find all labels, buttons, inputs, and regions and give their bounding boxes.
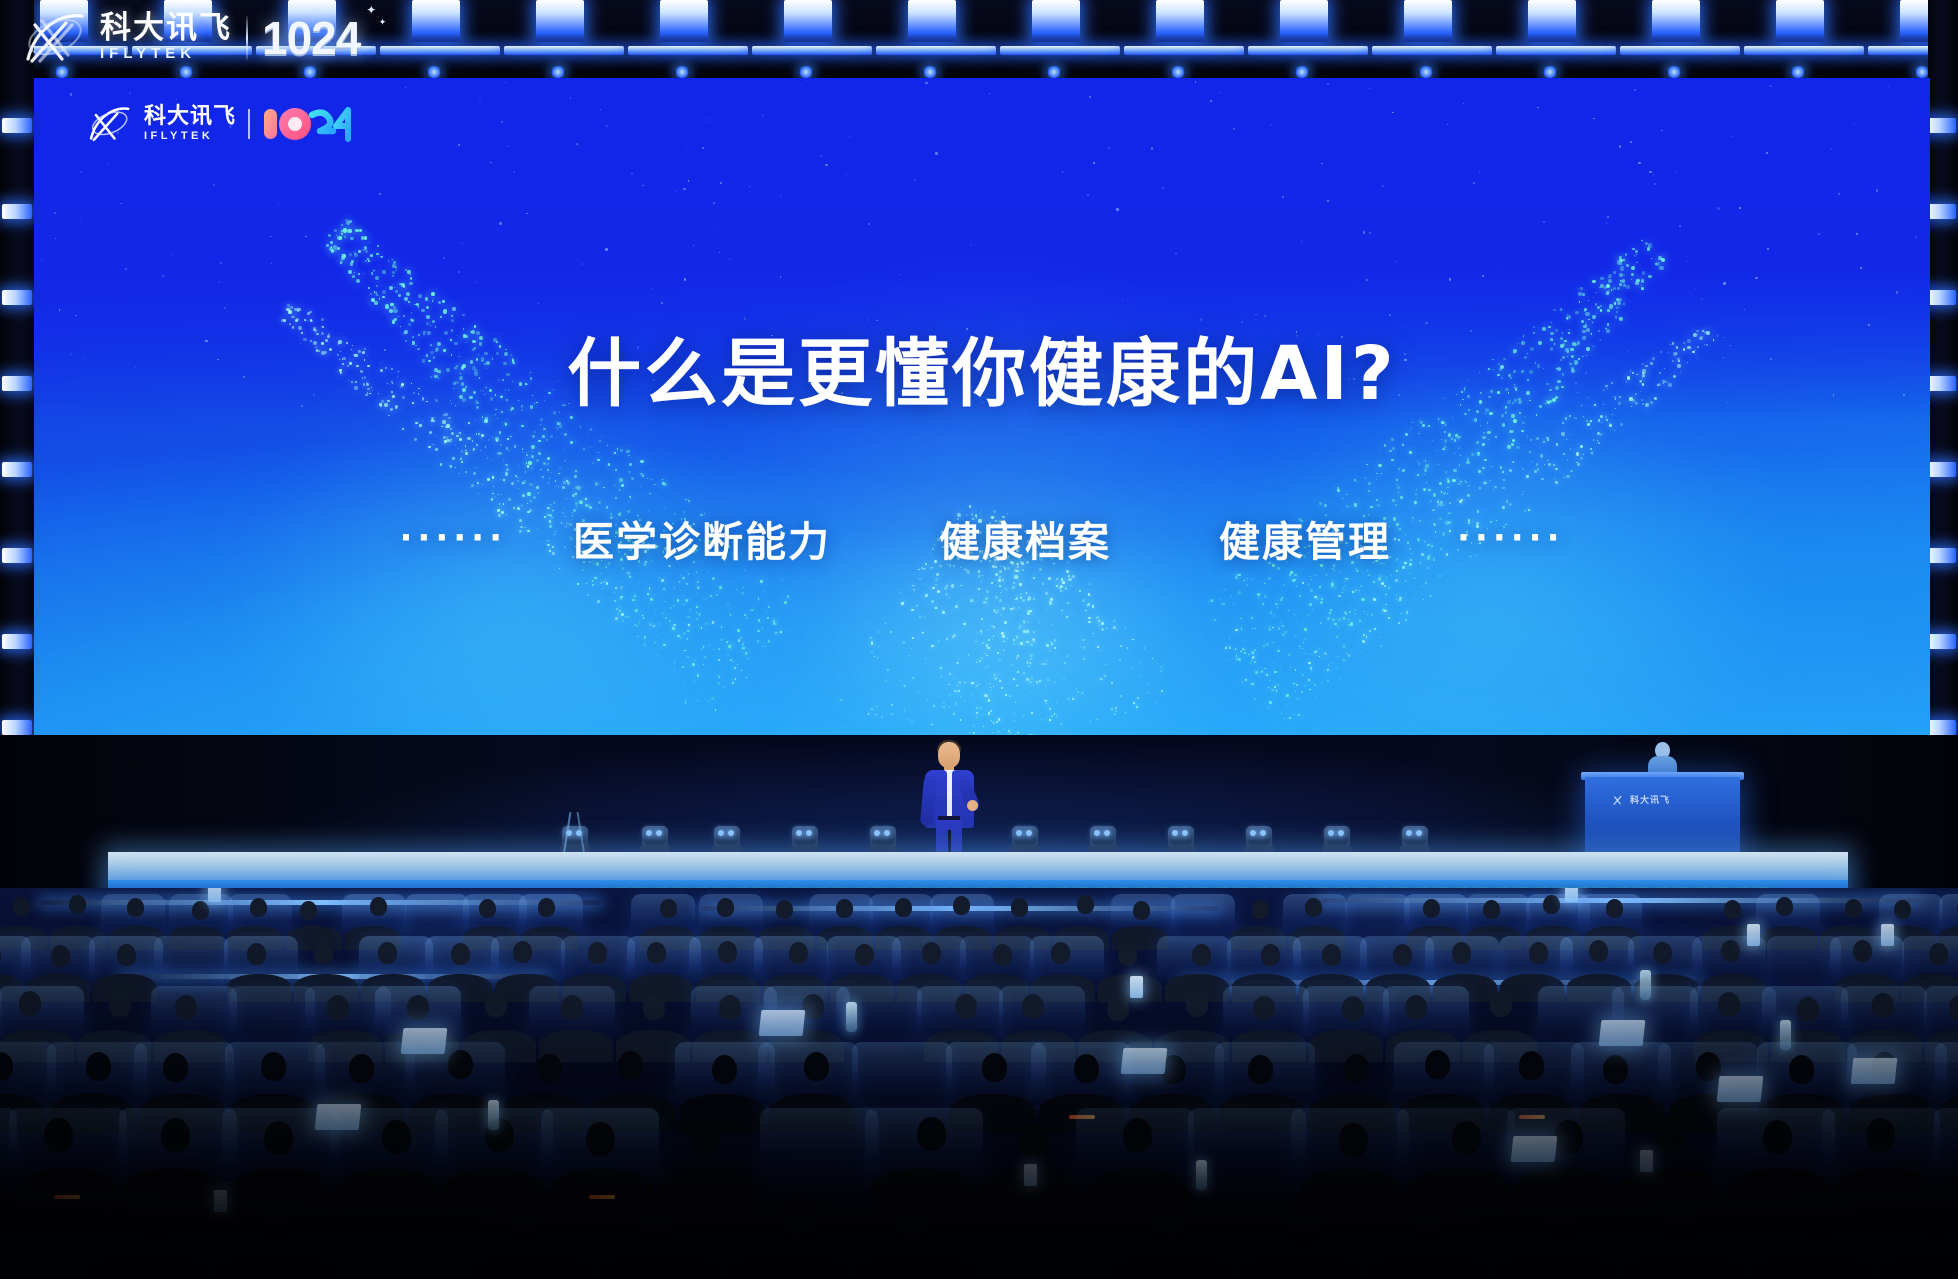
slide-particle — [1373, 598, 1376, 601]
slide-particle — [968, 654, 969, 655]
slide-particle — [1723, 282, 1725, 284]
slide-particle — [425, 297, 428, 300]
slide-particle — [1255, 671, 1257, 673]
slide-particle — [1017, 655, 1019, 657]
slide-particle — [619, 478, 622, 481]
slide-particle — [549, 478, 550, 479]
led-bar-horizontal — [876, 46, 996, 55]
slide-particle — [912, 585, 914, 587]
slide-particle — [479, 100, 481, 102]
slide-particle — [435, 448, 438, 451]
slide-particle — [1687, 261, 1688, 262]
slide-particle — [985, 597, 988, 600]
slide-particle — [1631, 279, 1632, 280]
slide-particle — [683, 188, 685, 190]
slide-particle — [1088, 603, 1089, 604]
led-bar-side — [1926, 548, 1956, 563]
slide-particle — [125, 268, 127, 270]
slide-particle — [971, 694, 972, 695]
slide-particle — [1331, 663, 1332, 664]
slide-particle — [684, 650, 686, 652]
slide-particle — [1547, 439, 1549, 441]
slide-particle — [731, 608, 732, 609]
slide-particle — [1445, 471, 1447, 473]
slide-particle — [737, 629, 740, 632]
slide-particle — [946, 638, 948, 640]
slide-particle — [1039, 568, 1042, 571]
slide-particle — [1233, 128, 1235, 130]
slide-particle — [1619, 273, 1623, 277]
slide-particle — [334, 229, 337, 232]
slide-particle — [1049, 708, 1051, 710]
slide-particle — [622, 620, 624, 622]
slide-particle — [740, 637, 742, 639]
slide-particle — [1426, 482, 1427, 483]
slide-particle — [1051, 643, 1053, 645]
slide-particle — [1604, 286, 1607, 289]
slide-particle — [1298, 714, 1300, 716]
slide-particle — [913, 589, 915, 591]
slide-particle — [1405, 619, 1407, 621]
slide-particle — [654, 484, 655, 485]
slide-particle — [1634, 255, 1635, 256]
slide-particle — [1030, 640, 1031, 641]
slide-particle — [620, 596, 623, 599]
slide-particle — [640, 486, 641, 487]
slide-particle — [1042, 583, 1044, 585]
slide-particle — [1152, 658, 1153, 659]
slide-particle — [495, 496, 496, 497]
slide-particle — [746, 677, 747, 678]
slide-particle — [958, 690, 960, 692]
slide-particle — [900, 592, 901, 593]
slide-particle — [477, 482, 479, 484]
slide-particle — [1555, 481, 1557, 483]
slide-particle — [703, 647, 704, 648]
slide-particle — [508, 146, 509, 147]
slide-particle — [1464, 480, 1465, 481]
slide-particle — [460, 458, 462, 460]
slide-particle — [720, 182, 722, 184]
slide-particle — [1026, 592, 1027, 593]
slide-particle — [1019, 625, 1021, 627]
slide-particle — [1350, 622, 1353, 625]
slide-particle — [1022, 599, 1025, 602]
slide-particle — [1087, 194, 1089, 196]
slide-particle — [1362, 640, 1365, 643]
slide-particle — [1613, 287, 1616, 290]
slide-particle — [1000, 614, 1002, 616]
slide-particle — [1443, 492, 1446, 495]
slide-particle — [1310, 654, 1311, 655]
slide-particle — [403, 285, 405, 287]
slide-particle — [55, 238, 56, 239]
slide-particle — [532, 435, 535, 438]
slide-particle — [1570, 470, 1573, 473]
slide-particle — [924, 617, 925, 618]
slide-particle — [443, 309, 447, 313]
slide-particle — [978, 570, 981, 573]
slide-particle — [1530, 439, 1532, 441]
slide-particle — [991, 720, 992, 721]
slide-particle — [1631, 273, 1634, 276]
slide-particle — [344, 236, 346, 238]
slide-particle — [1271, 689, 1274, 692]
slide-particle — [576, 506, 577, 507]
slide-particle — [376, 253, 379, 256]
slide-particle — [368, 287, 371, 290]
slide-particle — [958, 659, 959, 660]
slide-particle — [382, 270, 386, 274]
slide-particle — [1343, 645, 1345, 647]
slide-particle — [1316, 697, 1317, 698]
slide-particle — [359, 229, 362, 232]
slide-particle — [1342, 498, 1343, 499]
slide-particle — [1252, 579, 1253, 580]
slide-particle — [1041, 719, 1042, 720]
slide-particle — [719, 252, 720, 253]
slide-particle — [1695, 288, 1696, 289]
slide-particle — [1294, 714, 1295, 715]
slide-particle — [922, 632, 923, 633]
slide-particle — [1478, 470, 1481, 473]
slide-particle — [655, 642, 656, 643]
slide-particle — [476, 444, 478, 446]
slide-particle — [717, 682, 720, 685]
slide-particle — [1659, 266, 1663, 270]
led-bar-vertical — [1156, 0, 1204, 42]
slide-particle — [534, 431, 536, 433]
slide-particle — [1151, 147, 1153, 149]
slide-particle — [1351, 189, 1352, 190]
slide-particle — [1600, 305, 1602, 307]
slide-particle — [579, 501, 582, 504]
slide-particle — [922, 633, 923, 634]
slide-particle — [381, 285, 382, 286]
slide-particle — [1082, 692, 1083, 693]
slide-particle — [903, 641, 905, 643]
slide-particle — [378, 281, 379, 282]
slide-particle — [1616, 311, 1618, 313]
slide-particle — [1701, 298, 1703, 300]
slide-particle — [662, 482, 664, 484]
led-bar-horizontal — [1372, 46, 1492, 55]
slide-particle — [688, 500, 690, 502]
slide-particle — [1617, 287, 1620, 290]
slide-particle — [764, 591, 765, 592]
slide-particle — [1212, 616, 1213, 617]
slide-particle — [988, 629, 989, 630]
slide-particle — [1096, 616, 1098, 618]
led-glow-dot — [674, 66, 690, 78]
slide-particle — [1009, 733, 1010, 734]
slide-particle — [353, 251, 354, 252]
slide-particle — [868, 223, 870, 225]
slide-particle — [1009, 683, 1010, 684]
slide-particle — [697, 700, 699, 702]
slide-particle — [382, 296, 384, 298]
slide-particle — [730, 614, 731, 615]
led-bar-vertical — [660, 0, 708, 42]
slide-particle — [658, 635, 659, 636]
slide-particle — [1162, 187, 1164, 189]
slide-particle — [1030, 643, 1033, 646]
slide-particle — [363, 262, 364, 263]
slide-particle — [1661, 130, 1662, 131]
slide-particle — [1634, 89, 1636, 91]
slide-particle — [1356, 570, 1359, 573]
slide-particle — [631, 477, 634, 480]
slide-particle — [628, 455, 629, 456]
slide-particle — [933, 705, 935, 707]
slide-particle — [1079, 590, 1081, 592]
slide-particle — [526, 213, 528, 215]
slide-particle — [129, 92, 131, 94]
slide-particle — [698, 624, 699, 625]
slide-particle — [830, 112, 831, 113]
slide-particle — [730, 659, 732, 661]
slide-particle — [1028, 666, 1029, 667]
slide-particle — [1327, 83, 1329, 85]
slide-particle — [605, 125, 607, 127]
slide-particle — [392, 275, 394, 277]
slide-particle — [1093, 162, 1094, 163]
slide-particle — [618, 606, 619, 607]
slide-particle — [341, 224, 344, 227]
slide-particle — [1023, 630, 1025, 632]
slide-particle — [1056, 716, 1057, 717]
slide-particle — [348, 270, 352, 274]
slide-particle — [350, 237, 354, 241]
slide-particle — [1257, 653, 1258, 654]
slide-particle — [1261, 670, 1263, 672]
slide-particle — [931, 645, 933, 647]
slide-particle — [600, 582, 602, 584]
slide-particle — [927, 699, 928, 700]
slide-particle — [1860, 267, 1862, 269]
slide-particle — [1312, 609, 1314, 611]
slide-particle — [458, 448, 459, 449]
slide-particle — [1614, 302, 1617, 305]
led-glow-dot — [1790, 66, 1806, 78]
keynote-speaker — [916, 742, 982, 864]
slide-particle — [942, 610, 943, 611]
slide-particle — [1458, 436, 1461, 439]
slide-particle — [1017, 732, 1019, 734]
leading-ellipsis: ······ — [400, 518, 508, 558]
slide-particle — [1631, 266, 1636, 271]
slide-particle — [1513, 461, 1514, 462]
led-bar-vertical — [536, 0, 584, 42]
slide-particle — [499, 222, 501, 224]
slide-particle — [563, 481, 566, 484]
slide-particle — [1618, 307, 1619, 308]
slide-particle — [738, 639, 740, 641]
slide-particle — [931, 724, 932, 725]
slide-particle — [1463, 103, 1464, 104]
slide-particle — [1014, 713, 1015, 714]
slide-particle — [1626, 264, 1629, 267]
slide-particle — [931, 600, 934, 603]
slide-particle — [429, 431, 432, 434]
slide-particle — [1270, 611, 1273, 614]
slide-particle — [1625, 253, 1628, 256]
slide-particle — [607, 445, 608, 446]
slide-particle — [54, 212, 56, 214]
slide-particle — [1425, 582, 1427, 584]
slide-particle — [341, 233, 343, 235]
slide-particle — [356, 279, 360, 283]
slide-particle — [954, 690, 956, 692]
slide-particle — [1108, 147, 1110, 149]
slide-particle — [1144, 647, 1145, 648]
slide-particle — [996, 721, 998, 723]
slide-particle — [1361, 629, 1362, 630]
slide-particle — [935, 152, 937, 154]
slide-particle — [602, 588, 603, 589]
slide-particle — [960, 719, 962, 721]
slide-particle — [1641, 279, 1644, 282]
slide-particle — [621, 484, 624, 487]
slide-particle — [989, 673, 990, 674]
slide-particle — [1495, 436, 1497, 438]
slide-particle — [640, 460, 643, 463]
slide-particle — [507, 438, 509, 440]
slide-particle — [1113, 626, 1116, 629]
slide-particle — [1061, 610, 1062, 611]
slide-particle — [677, 599, 679, 601]
slide-particle — [1348, 619, 1349, 620]
slide-particle — [443, 257, 445, 259]
slide-particle — [1354, 503, 1357, 506]
led-bar-horizontal — [1744, 46, 1864, 55]
slide-particle — [392, 284, 394, 286]
slide-particle — [688, 180, 689, 181]
slide-particle — [711, 697, 714, 700]
slide-particle — [1391, 575, 1392, 576]
slide-particle — [410, 277, 413, 280]
slide-particle — [1288, 610, 1289, 611]
slide-particle — [780, 631, 782, 633]
slide-particle — [661, 579, 664, 582]
slide-particle — [1274, 686, 1276, 688]
slide-particle — [1354, 613, 1356, 615]
slide-particle — [1593, 297, 1594, 298]
slide-particle — [672, 627, 674, 629]
presentation-slide: 科大讯飞 IFLYTEK — [34, 78, 1930, 735]
slide-particle — [1327, 617, 1330, 620]
slide-particle — [461, 468, 462, 469]
slide-particle — [685, 499, 686, 500]
slide-particle — [511, 482, 514, 485]
slide-particle — [220, 262, 222, 264]
slide-particle — [663, 588, 665, 590]
slide-particle — [1133, 702, 1135, 704]
slide-particle — [1635, 250, 1638, 253]
hall-logo-event-number: 1024 — [262, 15, 360, 61]
slide-particle — [355, 229, 358, 232]
slide-particle — [675, 191, 676, 192]
slide-particle — [1392, 499, 1395, 502]
slide-logo-cn-name: 科大讯飞 — [144, 105, 236, 127]
slide-particle — [1578, 292, 1582, 296]
slide-particle — [1282, 633, 1285, 636]
slide-particle — [619, 610, 621, 612]
slide-particle — [696, 606, 698, 608]
slide-particle — [1619, 283, 1622, 286]
slide-particle — [1030, 658, 1032, 660]
slide-particle — [1420, 421, 1423, 424]
slide-particle — [1334, 570, 1335, 571]
slide-particle — [565, 478, 566, 479]
led-bar-horizontal — [1248, 46, 1368, 55]
slide-particle — [1008, 730, 1010, 732]
slide-particle — [614, 452, 615, 453]
slide-particle — [1363, 634, 1365, 636]
slide-particle — [449, 465, 450, 466]
slide-particle — [570, 97, 572, 99]
slide-particle — [1080, 646, 1082, 648]
slide-particle — [925, 82, 927, 84]
slide-particle — [1648, 275, 1652, 279]
slide-particle — [655, 610, 656, 611]
slide-particle — [999, 585, 1001, 587]
slide-particle — [1211, 599, 1213, 601]
slide-particle — [712, 621, 714, 623]
slide-particle — [1242, 681, 1243, 682]
led-bar-side — [2, 204, 32, 219]
slide-particle — [1641, 285, 1642, 286]
slide-particle — [820, 155, 822, 157]
slide-particle — [349, 220, 352, 223]
slide-particle — [1062, 581, 1065, 584]
slide-particle — [1082, 599, 1085, 602]
slide-particle — [530, 500, 532, 502]
slide-particle — [701, 649, 702, 650]
slide-particle — [1066, 616, 1068, 618]
slide-particle — [1443, 422, 1445, 424]
slide-particle — [1597, 306, 1600, 309]
slide-particle — [959, 681, 962, 684]
slide-particle — [1417, 474, 1419, 476]
led-bar-side — [2, 118, 32, 133]
slide-particle — [629, 576, 631, 578]
slide-particle — [741, 670, 742, 671]
slide-particle — [1038, 683, 1039, 684]
slide-particle — [1368, 490, 1370, 492]
slide-particle — [1284, 718, 1285, 719]
slide-particle — [914, 179, 916, 181]
slide-particle — [1636, 279, 1639, 282]
slide-particle — [628, 572, 630, 574]
slide-particle — [1449, 502, 1451, 504]
slide-particle — [1509, 469, 1512, 472]
led-bar-side — [1926, 462, 1956, 477]
slide-particle — [1455, 434, 1458, 437]
slide-particle — [554, 502, 555, 503]
slide-particle — [1248, 654, 1249, 655]
slide-particle — [1611, 289, 1612, 290]
slide-particle — [1321, 598, 1323, 600]
slide-particle — [708, 701, 709, 702]
slide-particle — [1473, 182, 1475, 184]
slide-particle — [615, 587, 617, 589]
slide-particle — [787, 595, 790, 598]
slide-particle — [1490, 480, 1491, 481]
slide-particle — [748, 658, 749, 659]
slide-particle — [970, 244, 972, 246]
speaker-hand — [967, 800, 978, 811]
